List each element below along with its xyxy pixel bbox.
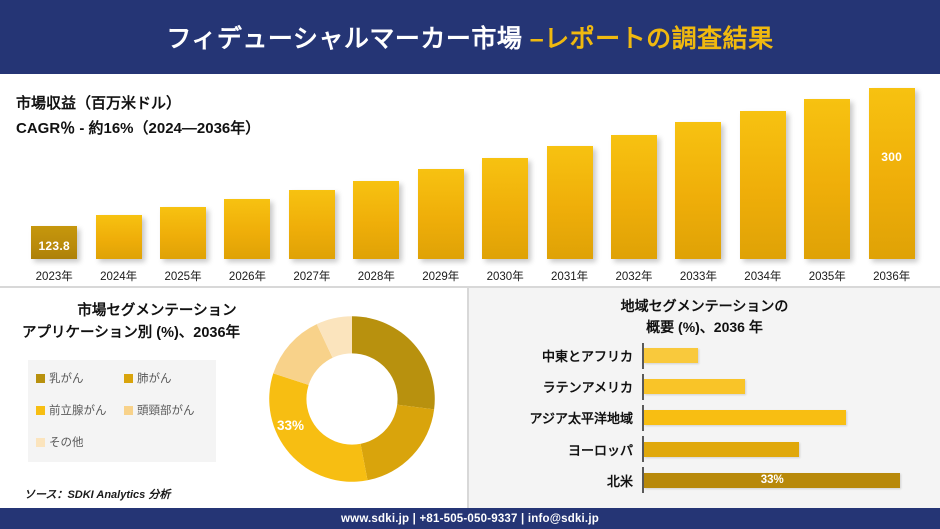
column-bar-holder: 123.8 [22,88,86,259]
segmentation-title-line1: 市場セグメンテーション [22,300,292,322]
column-bar: 300 [869,88,915,259]
column-group: 2031年 [537,78,601,284]
legend-item: 肺がん [124,370,208,386]
region-bar-value-label: 33% [761,474,784,486]
region-bar-label: アジア太平洋地域 [493,408,642,427]
footer-bar: www.sdki.jp | +81-505-050-9337 | info@sd… [0,508,940,529]
region-bar-chart: 中東とアフリカラテンアメリカアジア太平洋地域ヨーロッパ北米33% [493,340,916,496]
region-bar-row: 北米33% [493,467,916,493]
column-bar-holder [151,88,215,259]
legend-swatch-icon [36,438,45,447]
column-axis-label: 2023年 [36,268,73,284]
region-title: 地域セグメンテーションの 概要 (%)、2036 年 [469,296,940,338]
column-bar [611,135,657,259]
column-bar [353,181,399,259]
donut-center-percent-label: 33% [277,418,304,433]
column-group: 2026年 [215,78,279,284]
region-bar-label: 中東とアフリカ [493,346,642,365]
column-bar [160,207,206,259]
column-bar [418,169,464,259]
footer-contact-text: www.sdki.jp | +81-505-050-9337 | info@sd… [341,513,599,525]
legend-item-label: 乳がん [49,370,84,386]
column-axis-label: 2031年 [551,268,588,284]
region-bar [644,442,799,457]
donut-chart: 33% [259,306,445,492]
column-group: 2033年 [666,78,730,284]
column-group: 123.82023年 [22,78,86,284]
column-bar-holder [537,88,601,259]
column-bar-holder [344,88,408,259]
donut-legend: 乳がん肺がん前立腺がん頭頸部がんその他 [28,360,216,462]
region-bar [644,348,698,363]
column-group: 2032年 [602,78,666,284]
region-bar-track [642,374,916,400]
region-bar-row: ヨーロッパ [493,436,916,462]
legend-swatch-icon [36,406,45,415]
region-bar-label: ヨーロッパ [493,440,642,459]
region-bar-track [642,343,916,369]
legend-swatch-icon [124,406,133,415]
column-bar [96,215,142,259]
column-axis-label: 2028年 [358,268,395,284]
column-bar-value-label: 123.8 [38,239,70,253]
column-bar-holder [731,88,795,259]
column-bar [224,199,270,259]
column-group: 2030年 [473,78,537,284]
column-bar-holder: 300 [859,88,923,259]
region-bar-row: アジア太平洋地域 [493,405,916,431]
column-axis-label: 2025年 [165,268,202,284]
column-axis-label: 2030年 [487,268,524,284]
donut-chart-svg [259,306,445,492]
column-bar-holder [602,88,666,259]
column-group: 2024年 [86,78,150,284]
column-axis-label: 2024年 [100,268,137,284]
region-bar [644,379,745,394]
region-title-line1: 地域セグメンテーションの [469,296,940,317]
page-title: フィデューシャルマーカー市場 –レポートの調査結果 [166,19,773,55]
region-bar-row: ラテンアメリカ [493,374,916,400]
region-bar-label: ラテンアメリカ [493,377,642,396]
region-segmentation-panel: 地域セグメンテーションの 概要 (%)、2036 年 中東とアフリカラテンアメリ… [467,286,940,508]
column-bar-holder [795,88,859,259]
column-axis-label: 2036年 [873,268,910,284]
segmentation-title-line2: アプリケーション別 (%)、2036年 [22,322,292,344]
legend-item: 前立腺がん [36,402,120,418]
column-group: 2027年 [280,78,344,284]
legend-item: 頭頸部がん [124,402,208,418]
column-axis-label: 2026年 [229,268,266,284]
region-bar-track [642,436,916,462]
segmentation-title: 市場セグメンテーション アプリケーション別 (%)、2036年 [22,300,292,345]
source-note: ソース：SDKI Analytics 分析 [24,486,170,502]
legend-item: 乳がん [36,370,120,386]
region-bar-track [642,405,916,431]
column-axis-label: 2029年 [422,268,459,284]
column-bar-holder [666,88,730,259]
page-title-accent: –レポートの調査結果 [530,25,774,53]
column-bar-holder [86,88,150,259]
column-bar [482,158,528,259]
legend-item-label: 頭頸部がん [137,402,195,418]
column-bar [289,190,335,259]
region-bar-row: 中東とアフリカ [493,343,916,369]
region-bar-label: 北米 [493,471,642,490]
column-axis-label: 2034年 [744,268,781,284]
column-axis-label: 2032年 [615,268,652,284]
revenue-chart-panel: 市場収益（百万米ドル） CAGR％ - 約16%（2024―2036年） 123… [0,74,940,284]
legend-swatch-icon [36,374,45,383]
column-chart: 123.82023年2024年2025年2026年2027年2028年2029年… [22,78,924,284]
column-bar [740,111,786,259]
column-axis-label: 2027年 [293,268,330,284]
bottom-panels-row: 市場セグメンテーション アプリケーション別 (%)、2036年 乳がん肺がん前立… [0,286,940,508]
column-bar: 123.8 [31,226,77,259]
column-axis-label: 2035年 [809,268,846,284]
column-group: 3002036年 [859,78,923,284]
region-title-line2: 概要 (%)、2036 年 [469,317,940,338]
column-bar-holder [215,88,279,259]
region-bar [644,410,846,425]
column-group: 2029年 [409,78,473,284]
legend-item-label: 前立腺がん [49,402,107,418]
legend-item-label: その他 [49,434,84,450]
column-group: 2034年 [731,78,795,284]
legend-item: その他 [36,434,120,450]
application-segmentation-panel: 市場セグメンテーション アプリケーション別 (%)、2036年 乳がん肺がん前立… [0,286,467,508]
column-bar [547,146,593,259]
donut-hole [306,353,397,444]
legend-item-label: 肺がん [137,370,172,386]
column-axis-label: 2033年 [680,268,717,284]
column-bar-value-label: 300 [881,150,902,164]
region-bar-track: 33% [642,467,916,493]
legend-swatch-icon [124,374,133,383]
column-bar-holder [280,88,344,259]
column-group: 2025年 [151,78,215,284]
column-bar [675,122,721,259]
column-bar-holder [409,88,473,259]
column-group: 2035年 [795,78,859,284]
header-banner: フィデューシャルマーカー市場 –レポートの調査結果 [0,0,940,74]
column-group: 2028年 [344,78,408,284]
column-bar [804,99,850,259]
region-bar: 33% [644,473,900,488]
page-title-main: フィデューシャルマーカー市場 [166,25,529,53]
column-bar-holder [473,88,537,259]
